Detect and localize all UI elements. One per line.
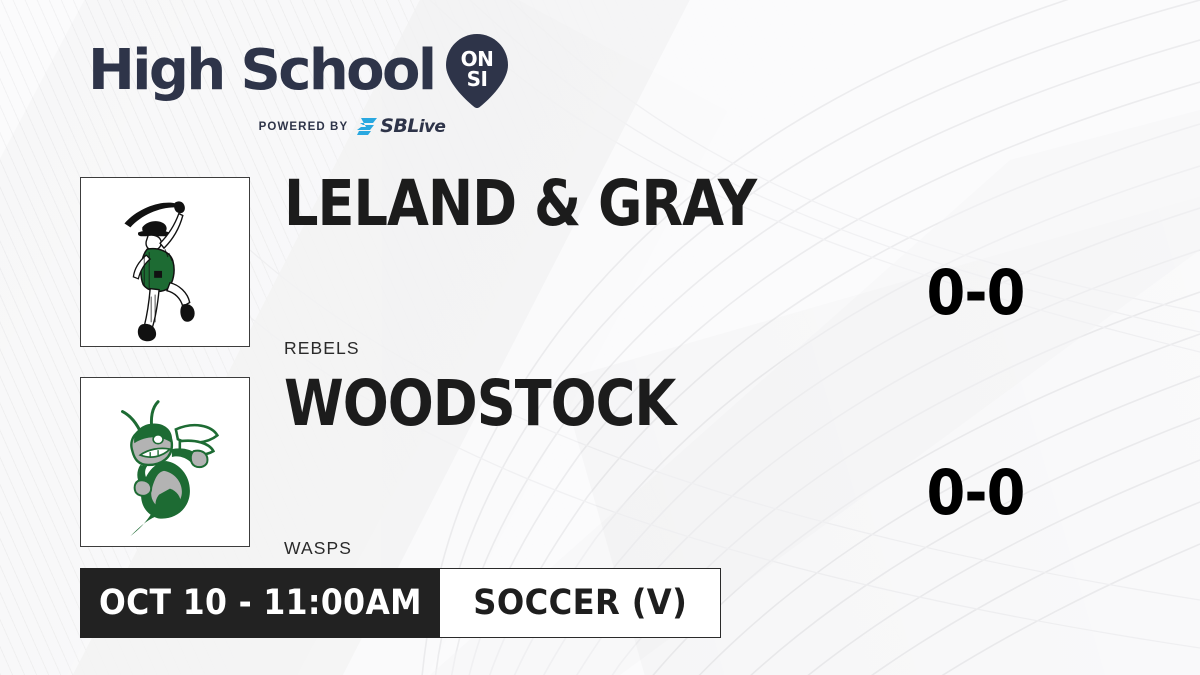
brand-wordmark: High School [88,45,434,97]
wasp-mascot-logo-icon [81,378,249,546]
sblive-word-secondary: ive [419,117,446,137]
home-team-logo-box[interactable] [80,377,250,547]
game-datetime-chip: OCT 10 - 11:00AM [80,568,440,638]
sblive-wordmark: SBLive [380,117,445,136]
game-sport-chip: SOCCER (V) [440,568,721,638]
game-datetime-label: OCT 10 - 11:00AM [99,583,422,623]
sblive-logo: SBLive [357,117,445,136]
brand-row: High School ON SI [88,34,508,108]
away-team-name: LELAND & GRAY [284,172,756,235]
game-info-bar: OCT 10 - 11:00AM SOCCER (V) [80,568,721,638]
powered-by-lockup: POWERED BY SBLive [88,117,508,136]
home-team-name: WOODSTOCK [284,372,675,435]
game-sport-label: SOCCER (V) [473,583,687,623]
home-team-nickname: WASPS [284,538,352,559]
powered-by-label: POWERED BY [259,121,349,133]
sblive-s-mark-icon [357,118,377,135]
scoreboard-graphic: High School ON SI POWERED BY SBLive [0,0,1200,675]
away-team-nickname: REBELS [284,338,360,359]
away-team-score: 0-0 [926,262,1024,324]
rebel-swordsman-mascot-logo-icon [81,178,249,346]
away-team-logo-box[interactable] [80,177,250,347]
svg-text:SI: SI [467,67,488,91]
on-si-map-pin-icon: ON SI [446,34,508,108]
sblive-word-primary: SBL [380,115,418,137]
home-team-score: 0-0 [926,462,1024,524]
brand-lockup: High School ON SI POWERED BY SBLive [88,34,508,136]
